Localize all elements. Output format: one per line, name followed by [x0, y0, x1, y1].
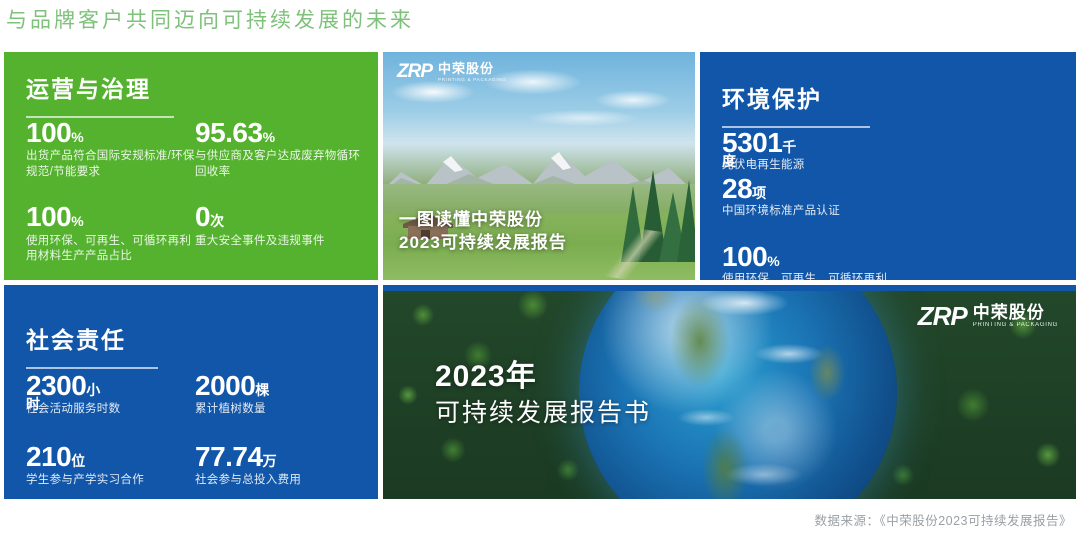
- globe-clouds: [579, 285, 897, 499]
- stat-number: 28项: [722, 174, 898, 203]
- zrp-chinese-name: 中荣股份: [438, 62, 507, 76]
- stat-unit: 棵: [255, 382, 269, 398]
- stat-unit: %: [71, 213, 83, 229]
- banner-top-strip: [383, 285, 1076, 291]
- stat-item: 77.74万 社会参与总投入费用: [195, 442, 364, 489]
- stat-description: 与供应商及客户达成废弃物循环回收率: [195, 149, 364, 180]
- stat-item: 100% 出货产品符合国际安规标准/环保规范/节能要求: [26, 118, 195, 180]
- panel-title-operations: 运营与治理: [26, 70, 151, 104]
- panel-social-responsibility: 社会责任 2300小时 社会活动服务时数 2000棵 累计植树数量 210位 学…: [4, 285, 378, 499]
- stat-item: 210位 学生参与产学实习合作: [26, 442, 195, 489]
- stat-description: 社会活动服务时数: [26, 402, 195, 418]
- stat-description: 出货产品符合国际安规标准/环保规范/节能要求: [26, 149, 195, 180]
- stats-grid-social: 2300小时 社会活动服务时数 2000棵 累计植树数量 210位 学生参与产学…: [26, 371, 364, 489]
- stat-unit-wrapped: 时: [26, 397, 40, 412]
- stat-description: 累计植树数量: [195, 402, 364, 418]
- stat-item: 0次 重大安全事件及违规事件: [195, 202, 364, 264]
- stat-unit-wrapped: 度: [722, 154, 736, 169]
- zrp-tagline: PRINTING & PACKAGING: [973, 322, 1058, 328]
- stat-item: 95.63% 与供应商及客户达成废弃物循环回收率: [195, 118, 364, 180]
- stat-number: 2300小时: [26, 371, 195, 400]
- zrp-logo: ZRP 中荣股份 PRINTING & PACKAGING: [397, 62, 507, 82]
- stat-number: 5301千度: [722, 128, 898, 157]
- stat-description: 使用环保、可再生、可循环再利用材料生产产品占比: [26, 234, 195, 265]
- stat-number: 0次: [195, 202, 364, 231]
- zrp-wordmark: ZRP: [397, 62, 432, 81]
- caption-line-2: 2023可持续发展报告: [399, 232, 683, 254]
- earth-banner-title: 2023年: [435, 351, 537, 395]
- stat-item: 100% 使用环保、可再生、可循环再利用材料生产产品占比: [722, 242, 898, 280]
- stats-grid-environment: 5301千度 光伏电再生能源 28项 中国环境标准产品认证 100% 使用环保、…: [722, 128, 1062, 280]
- stat-item: 100% 使用环保、可再生、可循环再利用材料生产产品占比: [26, 202, 195, 264]
- stat-unit: 位: [71, 453, 85, 469]
- stat-number: 100%: [722, 242, 898, 271]
- data-source-note: 数据来源：《中荣股份2023可持续发展报告》: [814, 510, 1072, 529]
- earth-globe: [579, 285, 897, 499]
- stat-unit: %: [767, 253, 779, 269]
- stat-unit: 千: [782, 139, 796, 155]
- stat-number: 2000棵: [195, 371, 364, 400]
- stat-unit: 万: [263, 453, 277, 469]
- zrp-chinese-name: 中荣股份: [973, 304, 1058, 322]
- stats-grid-operations: 100% 出货产品符合国际安规标准/环保规范/节能要求 95.63% 与供应商及…: [26, 118, 364, 265]
- stat-number: 210位: [26, 442, 195, 471]
- stat-number: 77.74万: [195, 442, 364, 471]
- stat-unit: %: [263, 129, 275, 145]
- stat-number: 100%: [26, 118, 195, 147]
- stat-unit: %: [71, 129, 83, 145]
- panel-environment-protection: 环境保护 5301千度 光伏电再生能源 28项 中国环境标准产品认证 100% …: [700, 52, 1076, 280]
- panel-title-social: 社会责任: [26, 321, 126, 355]
- stat-item: 2300小时 社会活动服务时数: [26, 371, 195, 418]
- caption-line-1: 一图读懂中荣股份: [399, 209, 683, 231]
- stat-description: 重大安全事件及违规事件: [195, 234, 364, 250]
- zrp-tagline: PRINTING & PACKAGING: [438, 77, 507, 82]
- title-divider: [26, 357, 158, 369]
- panel-title-environment: 环境保护: [722, 80, 822, 114]
- stat-item: 28项 中国环境标准产品认证: [722, 174, 898, 220]
- infographic-page: 与品牌客户共同迈向可持续发展的未来 运营与治理 100% 出货产品符合国际安规标…: [0, 0, 1080, 537]
- photo-earth-report-banner: 2023年 可持续发展报告书 ZRP 中荣股份 PRINTING & PACKA…: [383, 285, 1076, 499]
- stat-description: 使用环保、可再生、可循环再利用材料生产产品占比: [722, 272, 898, 280]
- zrp-wordmark: ZRP: [918, 303, 967, 329]
- zrp-logo: ZRP 中荣股份 PRINTING & PACKAGING: [918, 303, 1058, 329]
- stat-unit: 次: [210, 213, 224, 229]
- stat-item: 2000棵 累计植树数量: [195, 371, 364, 418]
- stat-number: 95.63%: [195, 118, 364, 147]
- stat-description: 光伏电再生能源: [722, 158, 898, 174]
- stat-description: 学生参与产学实习合作: [26, 473, 195, 489]
- stat-number: 100%: [26, 202, 195, 231]
- stat-description: 中国环境标准产品认证: [722, 204, 898, 220]
- stat-item: 5301千度 光伏电再生能源: [722, 128, 898, 174]
- panel-operations-governance: 运营与治理 100% 出货产品符合国际安规标准/环保规范/节能要求 95.63%…: [4, 52, 378, 280]
- page-title: 与品牌客户共同迈向可持续发展的未来: [6, 4, 414, 34]
- stat-unit: 小: [86, 382, 100, 398]
- photo-mountain-report-cover: ZRP 中荣股份 PRINTING & PACKAGING 一图读懂中荣股份 2…: [383, 52, 695, 280]
- photo-caption-mountain: 一图读懂中荣股份 2023可持续发展报告: [399, 209, 683, 254]
- stat-unit: 项: [752, 185, 766, 201]
- earth-banner-subtitle: 可持续发展报告书: [435, 393, 651, 429]
- stat-description: 社会参与总投入费用: [195, 473, 364, 489]
